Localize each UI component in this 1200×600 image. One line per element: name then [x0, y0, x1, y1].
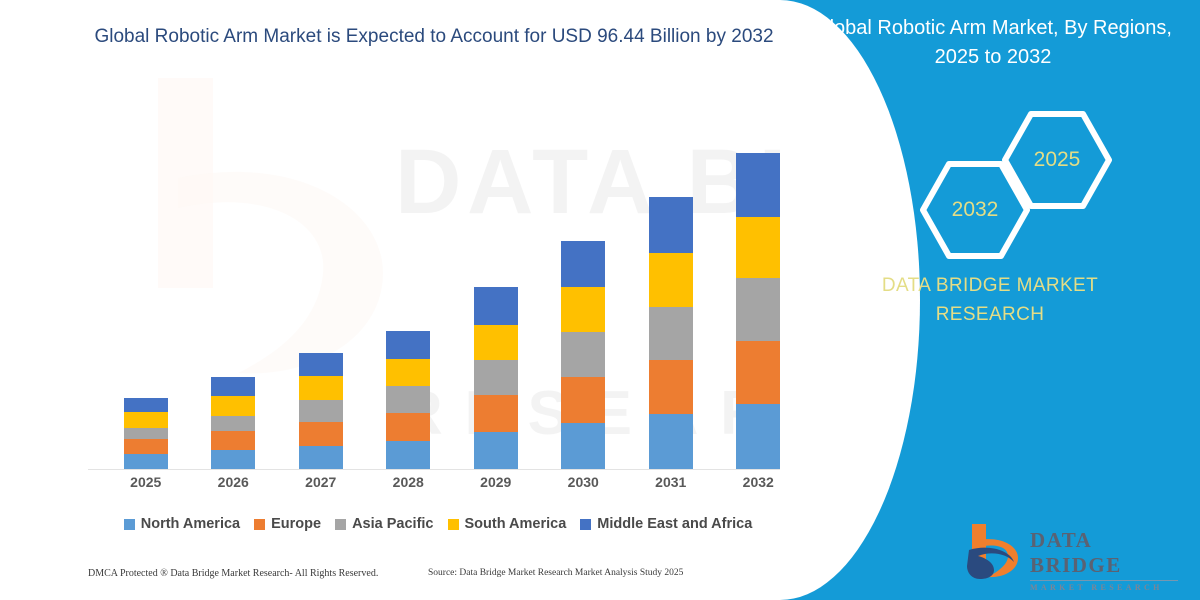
bar-segment[interactable] [649, 360, 693, 414]
legend-swatch-icon [254, 519, 265, 530]
logo: DATA BRIDGE MARKET RESEARCH [966, 520, 1178, 582]
bar-segment[interactable] [561, 241, 605, 287]
legend-item-asia-pacific[interactable]: Asia Pacific [335, 516, 433, 532]
bar-segment[interactable] [649, 197, 693, 253]
bar-segment[interactable] [561, 377, 605, 423]
bar-segment[interactable] [561, 287, 605, 332]
bar-2030[interactable] [561, 241, 605, 469]
chart-title: Global Robotic Arm Market is Expected to… [84, 22, 784, 52]
legend-label: North America [141, 516, 240, 532]
bar-segment[interactable] [386, 331, 430, 359]
bar-segment[interactable] [386, 413, 430, 441]
bar-segment[interactable] [211, 377, 255, 396]
x-axis-tick-2027: 2027 [286, 474, 356, 490]
bar-segment[interactable] [561, 332, 605, 377]
bar-segment[interactable] [124, 412, 168, 428]
bar-segment[interactable] [124, 428, 168, 439]
bar-segment[interactable] [474, 395, 518, 432]
bar-segment[interactable] [299, 446, 343, 469]
logo-divider [1030, 580, 1178, 581]
bar-segment[interactable] [299, 376, 343, 400]
chart-x-axis: 20252026202720282029203020312032 [88, 474, 788, 496]
bar-2031[interactable] [649, 197, 693, 469]
bar-segment[interactable] [299, 422, 343, 446]
bar-segment[interactable] [736, 153, 780, 217]
chart-baseline [88, 469, 788, 470]
bar-2027[interactable] [299, 353, 343, 469]
legend-swatch-icon [448, 519, 459, 530]
bar-segment[interactable] [474, 287, 518, 325]
bar-segment[interactable] [474, 432, 518, 469]
bar-segment[interactable] [474, 360, 518, 395]
bar-2029[interactable] [474, 287, 518, 469]
logo-text-sub: MARKET RESEARCH [1030, 583, 1178, 592]
logo-text-main: DATA BRIDGE [1030, 528, 1178, 578]
panel-title: Global Robotic Arm Market, By Regions, 2… [800, 14, 1186, 72]
legend-label: Europe [271, 516, 321, 532]
bar-segment[interactable] [124, 398, 168, 412]
x-axis-tick-2029: 2029 [461, 474, 531, 490]
x-axis-tick-2026: 2026 [198, 474, 268, 490]
hexagon-2032: 2032 [916, 158, 1034, 262]
brand-name-line2: RESEARCH [780, 301, 1200, 330]
bar-segment[interactable] [124, 439, 168, 454]
bar-segment[interactable] [299, 353, 343, 376]
bar-segment[interactable] [649, 307, 693, 360]
brand-panel: Global Robotic Arm Market, By Regions, 2… [780, 0, 1200, 600]
legend-swatch-icon [124, 519, 135, 530]
brand-name-line1: DATA BRIDGE MARKET [780, 272, 1200, 301]
bar-segment[interactable] [211, 431, 255, 450]
hexagon-group: 2025 2032 [780, 108, 1200, 233]
bar-segment[interactable] [211, 450, 255, 469]
legend-swatch-icon [335, 519, 346, 530]
bar-segment[interactable] [124, 454, 168, 469]
legend-label: Middle East and Africa [597, 516, 752, 532]
chart-plot-area [88, 118, 788, 470]
bar-segment[interactable] [736, 217, 780, 278]
legend-label: South America [465, 516, 567, 532]
legend-label: Asia Pacific [352, 516, 433, 532]
legend-item-north-america[interactable]: North America [124, 516, 240, 532]
bar-2032[interactable] [736, 153, 780, 469]
bar-2025[interactable] [124, 398, 168, 469]
footer-copyright: DMCA Protected ® Data Bridge Market Rese… [88, 568, 378, 579]
bar-segment[interactable] [386, 441, 430, 469]
legend-item-south-america[interactable]: South America [448, 516, 567, 532]
bar-segment[interactable] [561, 423, 605, 469]
bar-2026[interactable] [211, 377, 255, 469]
bar-segment[interactable] [299, 400, 343, 422]
bar-segment[interactable] [736, 278, 780, 341]
legend-item-middle-east-and-africa[interactable]: Middle East and Africa [580, 516, 752, 532]
bar-segment[interactable] [736, 404, 780, 469]
bar-segment[interactable] [649, 253, 693, 307]
bar-segment[interactable] [386, 386, 430, 413]
brand-name: DATA BRIDGE MARKET RESEARCH [780, 272, 1200, 329]
x-axis-tick-2030: 2030 [548, 474, 618, 490]
bar-2028[interactable] [386, 331, 430, 469]
hexagon-2032-label: 2032 [916, 198, 1034, 222]
bar-segment[interactable] [736, 341, 780, 404]
footer-source: Source: Data Bridge Market Research Mark… [428, 568, 683, 578]
x-axis-tick-2025: 2025 [111, 474, 181, 490]
x-axis-tick-2028: 2028 [373, 474, 443, 490]
x-axis-tick-2031: 2031 [636, 474, 706, 490]
bar-segment[interactable] [386, 359, 430, 386]
data-bridge-mark-icon [966, 522, 1022, 580]
footer: DMCA Protected ® Data Bridge Market Rese… [0, 566, 800, 590]
logo-text: DATA BRIDGE MARKET RESEARCH [1030, 528, 1178, 592]
legend-swatch-icon [580, 519, 591, 530]
bar-segment[interactable] [649, 414, 693, 469]
infographic-canvas: DATA BRIDGE RESEARCH Global Robotic Arm … [0, 0, 1200, 600]
bar-segment[interactable] [474, 325, 518, 360]
chart-legend: North AmericaEuropeAsia PacificSouth Ame… [88, 512, 788, 536]
bar-segment[interactable] [211, 416, 255, 431]
bar-segment[interactable] [211, 396, 255, 416]
legend-item-europe[interactable]: Europe [254, 516, 321, 532]
